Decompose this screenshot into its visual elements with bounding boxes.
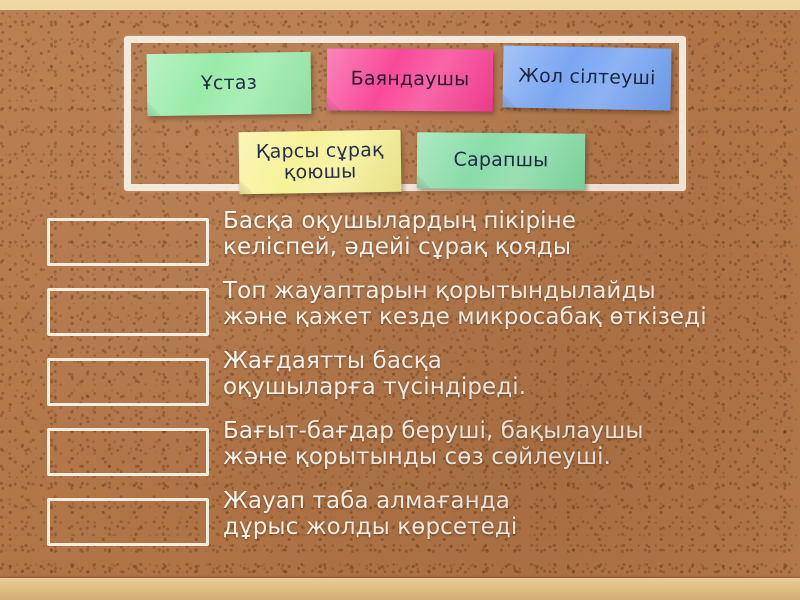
drop-zone-4[interactable] bbox=[47, 498, 209, 546]
clue-line-2: және қорытынды сөз сөйлеуші. bbox=[223, 444, 800, 470]
drop-zone-0[interactable] bbox=[47, 218, 209, 266]
match-row: Басқа оқушылардың пікіріне келіспей, әде… bbox=[0, 206, 800, 276]
clue-line-1: Бағыт-бағдар беруші, бақылаушы bbox=[223, 418, 644, 444]
board-wood-frame: Ұстаз Баяндаушы Жол сілтеуші Қарсы сұрақ… bbox=[0, 0, 800, 600]
clue-line-1: Жағдаятты басқа bbox=[223, 348, 442, 374]
drop-zone-3[interactable] bbox=[47, 428, 209, 476]
clue-line-2: дұрыс жолды көрсетеді bbox=[223, 514, 800, 540]
answer-card-ustaz[interactable]: Ұстаз bbox=[147, 52, 312, 116]
answer-card-zhol-silteushi[interactable]: Жол сілтеуші bbox=[502, 45, 671, 110]
clue-line-1: Басқа оқушылардың пікіріне bbox=[223, 208, 576, 234]
card-fold-corner bbox=[327, 97, 340, 110]
clue-line-1: Жауап таба алмағанда bbox=[223, 488, 510, 514]
match-row: Жағдаятты басқа оқушыларға түсіндіреді. bbox=[0, 346, 800, 416]
match-row: Жауап таба алмағанда дұрыс жолды көрсете… bbox=[0, 486, 800, 556]
clue-line-2: және қажет кезде микросабақ өткізеді bbox=[223, 304, 800, 330]
drop-zone-2[interactable] bbox=[47, 358, 209, 406]
answer-card-label: Сарапшы bbox=[453, 150, 548, 172]
clue-text-2: Жағдаятты басқа оқушыларға түсіндіреді. bbox=[223, 346, 800, 400]
match-rows-list: Басқа оқушылардың пікіріне келіспей, әде… bbox=[0, 206, 800, 556]
answer-card-label: Баяндаушы bbox=[351, 69, 470, 91]
match-row: Бағыт-бағдар беруші, бақылаушы және қоры… bbox=[0, 416, 800, 486]
clue-text-0: Басқа оқушылардың пікіріне келіспей, әде… bbox=[223, 206, 800, 260]
clue-text-1: Топ жауаптарын қорытындылайды және қажет… bbox=[223, 276, 800, 330]
card-fold-corner bbox=[502, 94, 515, 107]
answer-cards-tray: Ұстаз Баяндаушы Жол сілтеуші Қарсы сұрақ… bbox=[124, 36, 686, 191]
answer-card-label: Ұстаз bbox=[201, 73, 257, 95]
clue-line-2: келіспей, әдейі сұрақ қояды bbox=[223, 234, 800, 260]
card-fold-corner bbox=[417, 175, 430, 188]
answer-card-sarapshy[interactable]: Сарапшы bbox=[417, 132, 585, 189]
drop-zone-1[interactable] bbox=[47, 288, 209, 336]
answer-card-bayandaushy[interactable]: Баяндаушы bbox=[327, 48, 493, 111]
clue-text-4: Жауап таба алмағанда дұрыс жолды көрсете… bbox=[223, 486, 800, 540]
clue-text-3: Бағыт-бағдар беруші, бақылаушы және қоры… bbox=[223, 416, 800, 470]
clue-line-2: оқушыларға түсіндіреді. bbox=[223, 374, 800, 400]
answer-card-label: Жол сілтеуші bbox=[518, 66, 656, 90]
answer-card-qarsy-suraq-qoyushy[interactable]: Қарсы сұрақ қоюшы bbox=[239, 130, 402, 195]
match-row: Топ жауаптарын қорытындылайды және қажет… bbox=[0, 276, 800, 346]
cork-board-surface: Ұстаз Баяндаушы Жол сілтеуші Қарсы сұрақ… bbox=[0, 10, 800, 578]
clue-line-1: Топ жауаптарын қорытындылайды bbox=[223, 278, 656, 304]
board-bottom-wood-strip bbox=[0, 578, 800, 600]
answer-card-label: Қарсы сұрақ қоюшы bbox=[249, 140, 392, 185]
card-fold-corner bbox=[147, 103, 160, 116]
